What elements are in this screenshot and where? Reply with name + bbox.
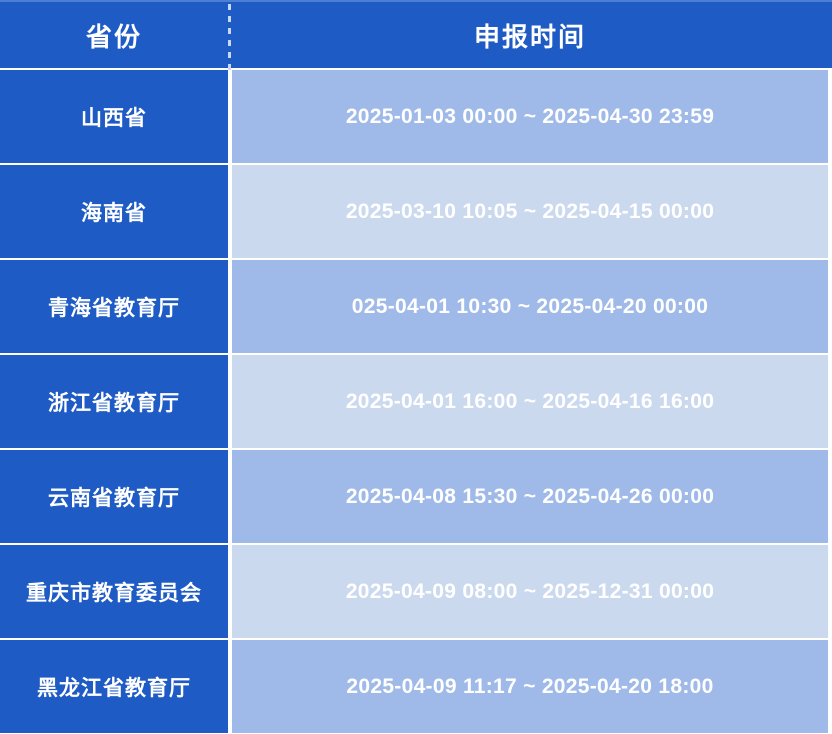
table-row: 云南省教育厅 2025-04-08 15:30 ~ 2025-04-26 00:… xyxy=(0,448,832,543)
cell-province: 青海省教育厅 xyxy=(0,260,228,353)
cell-declare-time: 025-04-01 10:30 ~ 2025-04-20 00:00 xyxy=(232,260,828,353)
table-row: 青海省教育厅 025-04-01 10:30 ~ 2025-04-20 00:0… xyxy=(0,258,832,353)
cell-province: 山西省 xyxy=(0,70,228,163)
header-column-divider xyxy=(228,4,231,70)
cell-declare-time: 2025-04-09 11:17 ~ 2025-04-20 18:00 xyxy=(232,640,828,733)
cell-declare-time: 2025-01-03 00:00 ~ 2025-04-30 23:59 xyxy=(232,70,828,163)
cell-province: 浙江省教育厅 xyxy=(0,355,228,448)
declaration-schedule-table: 省份 申报时间 山西省 2025-01-03 00:00 ~ 2025-04-3… xyxy=(0,0,832,734)
table-row: 黑龙江省教育厅 2025-04-09 11:17 ~ 2025-04-20 18… xyxy=(0,638,832,733)
table-row: 海南省 2025-03-10 10:05 ~ 2025-04-15 00:00 xyxy=(0,163,832,258)
table-row: 山西省 2025-01-03 00:00 ~ 2025-04-30 23:59 xyxy=(0,68,832,163)
column-header-province: 省份 xyxy=(0,2,228,68)
table-row: 重庆市教育委员会 2025-04-09 08:00 ~ 2025-12-31 0… xyxy=(0,543,832,638)
cell-declare-time: 2025-04-01 16:00 ~ 2025-04-16 16:00 xyxy=(232,355,828,448)
cell-province: 云南省教育厅 xyxy=(0,450,228,543)
cell-province: 黑龙江省教育厅 xyxy=(0,640,228,733)
column-header-declare-time: 申报时间 xyxy=(228,2,832,68)
cell-declare-time: 2025-04-08 15:30 ~ 2025-04-26 00:00 xyxy=(232,450,828,543)
cell-province: 海南省 xyxy=(0,165,228,258)
table-body: 山西省 2025-01-03 00:00 ~ 2025-04-30 23:59 … xyxy=(0,68,832,734)
table-row: 浙江省教育厅 2025-04-01 16:00 ~ 2025-04-16 16:… xyxy=(0,353,832,448)
cell-declare-time: 2025-03-10 10:05 ~ 2025-04-15 00:00 xyxy=(232,165,828,258)
cell-province: 重庆市教育委员会 xyxy=(0,545,228,638)
cell-declare-time: 2025-04-09 08:00 ~ 2025-12-31 00:00 xyxy=(232,545,828,638)
table-header-row: 省份 申报时间 xyxy=(0,0,832,68)
